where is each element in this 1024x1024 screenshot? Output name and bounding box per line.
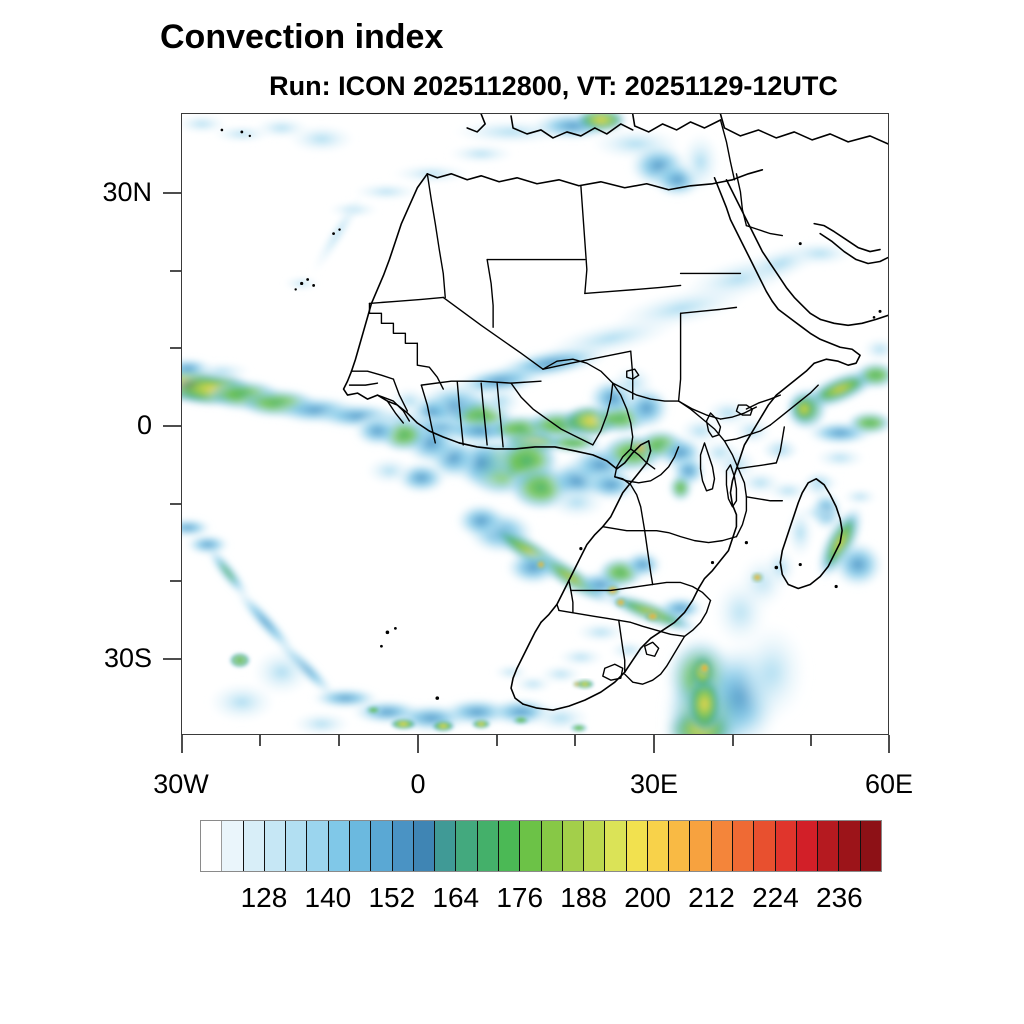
colorbar-cell-15 (520, 821, 541, 871)
colorbar-cell-29 (818, 821, 839, 871)
colorbar-cell-5 (307, 821, 328, 871)
run-valid-time-subtitle: Run: ICON 2025112800, VT: 20251129-12UTC (181, 70, 926, 102)
colorbar-cell-18 (584, 821, 605, 871)
colorbar-cell-11 (435, 821, 456, 871)
x-tick-20E (574, 735, 576, 746)
colorbar-label-224: 224 (752, 884, 799, 912)
x-tick-label-30E: 30E (604, 771, 704, 798)
colorbar-cell-6 (329, 821, 350, 871)
colorbar-cell-3 (265, 821, 286, 871)
figure-canvas: Convection index Run: ICON 2025112800, V… (0, 0, 1024, 1024)
colorbar-cell-25 (733, 821, 754, 871)
colorbar-cell-0 (201, 821, 222, 871)
colorbar-label-212: 212 (688, 884, 735, 912)
x-tick-30W (181, 735, 183, 753)
x-tick-40E (732, 735, 734, 746)
x-tick-0 (417, 735, 419, 753)
x-tick-20W (259, 735, 261, 746)
y-tick-0 (163, 425, 181, 427)
colorbar-label-140: 140 (305, 884, 352, 912)
colorbar-cell-27 (776, 821, 797, 871)
colorbar-cell-31 (861, 821, 881, 871)
colorbar-cell-8 (371, 821, 392, 871)
colorbar-cell-21 (648, 821, 669, 871)
colorbar-cell-23 (690, 821, 711, 871)
colorbar-label-128: 128 (241, 884, 288, 912)
x-tick-10W (338, 735, 340, 746)
colorbar-label-176: 176 (496, 884, 543, 912)
y-tick-30S (163, 658, 181, 660)
colorbar-cell-2 (244, 821, 265, 871)
colorbar-cell-7 (350, 821, 371, 871)
colorbar-cell-13 (478, 821, 499, 871)
colorbar-cell-24 (712, 821, 733, 871)
colorbar-cell-30 (839, 821, 860, 871)
y-tick-10S (170, 503, 181, 505)
x-tick-label-0: 0 (368, 771, 468, 798)
colorbar-cell-1 (222, 821, 243, 871)
x-tick-50E (810, 735, 812, 746)
colorbar-label-152: 152 (368, 884, 415, 912)
x-tick-30E (653, 735, 655, 753)
map-plot-area[interactable] (181, 113, 889, 735)
colorbar-label-164: 164 (432, 884, 479, 912)
page-title: Convection index (160, 18, 920, 56)
y-tick-30N (163, 192, 181, 194)
colorbar-cell-26 (754, 821, 775, 871)
colorbar-cell-17 (563, 821, 584, 871)
y-tick-label-30S: 30S (0, 645, 152, 672)
colorbar-cell-20 (627, 821, 648, 871)
colorbar-cell-22 (669, 821, 690, 871)
y-tick-20S (170, 580, 181, 582)
colorbar[interactable] (200, 820, 882, 872)
y-tick-10N (170, 347, 181, 349)
map-svg (182, 114, 888, 734)
y-tick-label-30N: 30N (0, 179, 152, 206)
colorbar-cell-12 (456, 821, 477, 871)
colorbar-cell-4 (286, 821, 307, 871)
x-tick-10E (496, 735, 498, 746)
colorbar-label-236: 236 (816, 884, 863, 912)
colorbar-cell-28 (797, 821, 818, 871)
colorbar-cell-14 (499, 821, 520, 871)
colorbar-label-188: 188 (560, 884, 607, 912)
colorbar-cell-19 (605, 821, 626, 871)
x-tick-label-60E: 60E (839, 771, 939, 798)
colorbar-cell-16 (542, 821, 563, 871)
x-tick-label-30W: 30W (131, 771, 231, 798)
colorbar-cell-10 (414, 821, 435, 871)
y-tick-label-0: 0 (0, 412, 152, 439)
y-tick-20N (170, 270, 181, 272)
colorbar-label-200: 200 (624, 884, 671, 912)
x-tick-60E (888, 735, 890, 753)
colorbar-cell-9 (393, 821, 414, 871)
